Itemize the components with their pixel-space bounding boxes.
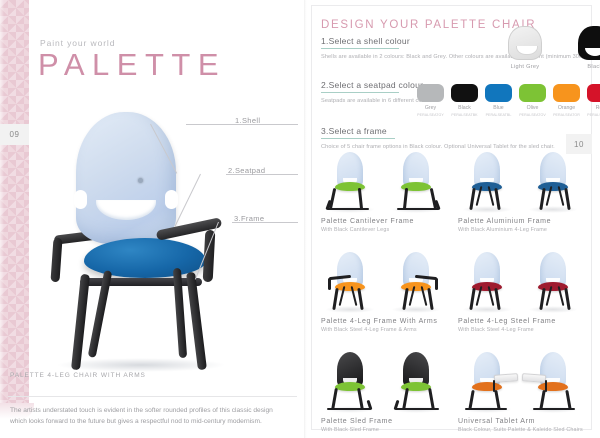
- callout-shell: 1.Shell: [235, 116, 260, 125]
- swatch-name: Grey: [417, 105, 444, 111]
- swatch-name: Black: [451, 105, 478, 111]
- seatpad-swatch-red[interactable]: RedPERALSEATRD: [587, 84, 600, 117]
- shell-thumbnail: [578, 26, 600, 60]
- page-number-right: 10: [566, 134, 592, 154]
- step-1-rule: [321, 48, 399, 49]
- shell-option-label: Black: [573, 64, 600, 70]
- frame-illustration: [319, 146, 452, 216]
- frame-illustration: [319, 346, 452, 416]
- photo-caption: PALETTE 4-LEG CHAIR WITH ARMS: [10, 372, 146, 379]
- swatch-chip: [451, 84, 478, 102]
- frame-chair-illustration: [323, 146, 381, 216]
- shell-option-label: Light Grey: [503, 64, 547, 70]
- seatpad-swatch-blue[interactable]: BluePERALSEATBL: [485, 84, 512, 117]
- divider: [8, 396, 297, 397]
- frame-chair-illustration: [460, 246, 518, 316]
- tablet-arm-surface: [522, 373, 546, 383]
- frame-illustration: [456, 246, 589, 316]
- chair-shell-notch-right: [165, 190, 178, 209]
- chair-arm-post: [328, 278, 331, 290]
- swatch-chip: [519, 84, 546, 102]
- frame-chair-illustration: [522, 346, 580, 416]
- chair-shadow: [528, 206, 578, 213]
- swatch-code: PERALSEATGY: [417, 113, 444, 117]
- seatpad-swatch-orange[interactable]: OrangePERALSEATOR: [553, 84, 580, 117]
- frame-option-subtitle: With Black Cantilever Legs: [321, 227, 389, 233]
- chair-shadow: [528, 306, 578, 313]
- swatch-code: PERALSEATOV: [519, 113, 546, 117]
- sled-runner: [327, 408, 371, 410]
- shell-colour-options: Light GreyBlack: [503, 26, 600, 70]
- triangle-pattern: [0, 0, 29, 403]
- swatch-name: Red: [587, 105, 600, 111]
- shell-option-black[interactable]: Black: [573, 26, 600, 70]
- sled-runner: [533, 408, 575, 410]
- frame-option-subtitle: With Black Sled Frame: [321, 427, 379, 433]
- strip-highlight: [0, 0, 4, 403]
- frame-option-name: Palette Sled Frame: [321, 418, 393, 425]
- swatch-code: PERALSEATOR: [553, 113, 580, 117]
- shell-option-light-grey[interactable]: Light Grey: [503, 26, 547, 70]
- frame-chair-illustration: [522, 146, 580, 216]
- sled-runner: [395, 408, 439, 410]
- body-copy: The artists understated touch is evident…: [10, 406, 290, 427]
- frame-chair-illustration: [460, 146, 518, 216]
- frame-illustration: [456, 346, 589, 416]
- callout-seatpad: 2.Seatpad: [228, 166, 265, 175]
- callout-frame: 3.Frame: [234, 214, 264, 223]
- chair-shell-fixing: [138, 178, 143, 183]
- frame-chair-illustration: [522, 246, 580, 316]
- seatpad-swatch-grey[interactable]: GreyPERALSEATGY: [417, 84, 444, 117]
- cantilever-skid: [327, 208, 369, 210]
- page-title: PALETTE: [38, 47, 226, 83]
- seatpad-swatch-black[interactable]: BlackPERALSEATBK: [451, 84, 478, 117]
- step-3-title: 3.Select a frame: [321, 126, 555, 138]
- frame-chair-illustration: [385, 346, 443, 416]
- chair-leg-front-left: [71, 274, 90, 370]
- swatch-code: PERALSEATBK: [451, 113, 478, 117]
- swatch-name: Blue: [485, 105, 512, 111]
- frame-chair-illustration: [323, 346, 381, 416]
- frame-option-palette-4-leg-frame-with-arms[interactable]: Palette 4-Leg Frame With ArmsWith Black …: [319, 246, 452, 342]
- frame-option-name: Palette Cantilever Frame: [321, 218, 414, 225]
- swatch-chip: [553, 84, 580, 102]
- left-page: Palette 09 Paint your world PALETTE: [0, 0, 305, 438]
- chair-shell-notch-left: [74, 190, 87, 209]
- frame-option-palette-sled-frame[interactable]: Palette Sled FrameWith Black Sled Frame: [319, 346, 452, 438]
- frame-option-palette-aluminium-frame[interactable]: Palette Aluminium FrameWith Black Alumin…: [456, 146, 589, 242]
- step-3-rule: [321, 138, 395, 139]
- seatpad-swatch-olive[interactable]: OlivePERALSEATOV: [519, 84, 546, 117]
- seatpad-colour-swatches: GreyPERALSEATGYBlackPERALSEATBKBluePERAL…: [417, 84, 600, 117]
- frame-illustration: [456, 146, 589, 216]
- swatch-name: Orange: [553, 105, 580, 111]
- page-number-left: 09: [0, 124, 29, 145]
- swatch-name: Olive: [519, 105, 546, 111]
- frame-option-subtitle: With Black Steel 4-Leg Frame & Arms: [321, 327, 417, 333]
- frame-chair-illustration: [385, 246, 443, 316]
- catalogue-spread: Palette 09 Paint your world PALETTE: [0, 0, 600, 438]
- frame-option-subtitle: With Black Aluminium 4-Leg Frame: [458, 227, 547, 233]
- frame-option-universal-tablet-arm[interactable]: Universal Tablet ArmBlack Colour, Suits …: [456, 346, 589, 438]
- frame-option-subtitle: Black Colour, Suits Palette & Kaleido Sl…: [458, 427, 583, 433]
- shell-thumbnail: [508, 26, 542, 60]
- frame-option-name: Palette 4-Leg Frame With Arms: [321, 318, 438, 325]
- page-tab-strip: [0, 0, 29, 403]
- swatch-chip: [485, 84, 512, 102]
- sled-runner: [465, 408, 507, 410]
- cantilever-skid: [397, 208, 439, 210]
- hero-chair-photo: [34, 112, 244, 370]
- frame-option-palette-4-leg-steel-frame[interactable]: Palette 4-Leg Steel FrameWith Black Stee…: [456, 246, 589, 342]
- chair-seatpad: [472, 382, 502, 391]
- chair-arm-post: [435, 278, 438, 290]
- chair-shadow: [391, 306, 441, 313]
- swatch-chip: [587, 84, 600, 102]
- frame-option-palette-cantilever-frame[interactable]: Palette Cantilever FrameWith Black Canti…: [319, 146, 452, 242]
- frame-options-grid: Palette Cantilever FrameWith Black Canti…: [319, 146, 589, 438]
- swatch-chip: [417, 84, 444, 102]
- swatch-code: PERALSEATBL: [485, 113, 512, 117]
- frame-chair-illustration: [323, 246, 381, 316]
- frame-option-name: Palette Aluminium Frame: [458, 218, 551, 225]
- tablet-arm-surface: [494, 373, 518, 383]
- swatch-code: PERALSEATRD: [587, 113, 600, 117]
- right-page: DESIGN YOUR PALETTE CHAIR 1.Select a she…: [307, 0, 600, 438]
- frame-chair-illustration: [460, 346, 518, 416]
- frame-option-name: Universal Tablet Arm: [458, 418, 535, 425]
- step-2-rule: [321, 92, 399, 93]
- frame-chair-illustration: [385, 146, 443, 216]
- frame-option-name: Palette 4-Leg Steel Frame: [458, 318, 556, 325]
- frame-option-subtitle: With Black Steel 4-Leg Frame: [458, 327, 534, 333]
- chair-leg-front-right: [186, 272, 207, 370]
- chair-shell: [76, 112, 176, 244]
- frame-illustration: [319, 246, 452, 316]
- chair-arm-left-post: [50, 238, 62, 283]
- chair-seat-rail: [80, 278, 202, 286]
